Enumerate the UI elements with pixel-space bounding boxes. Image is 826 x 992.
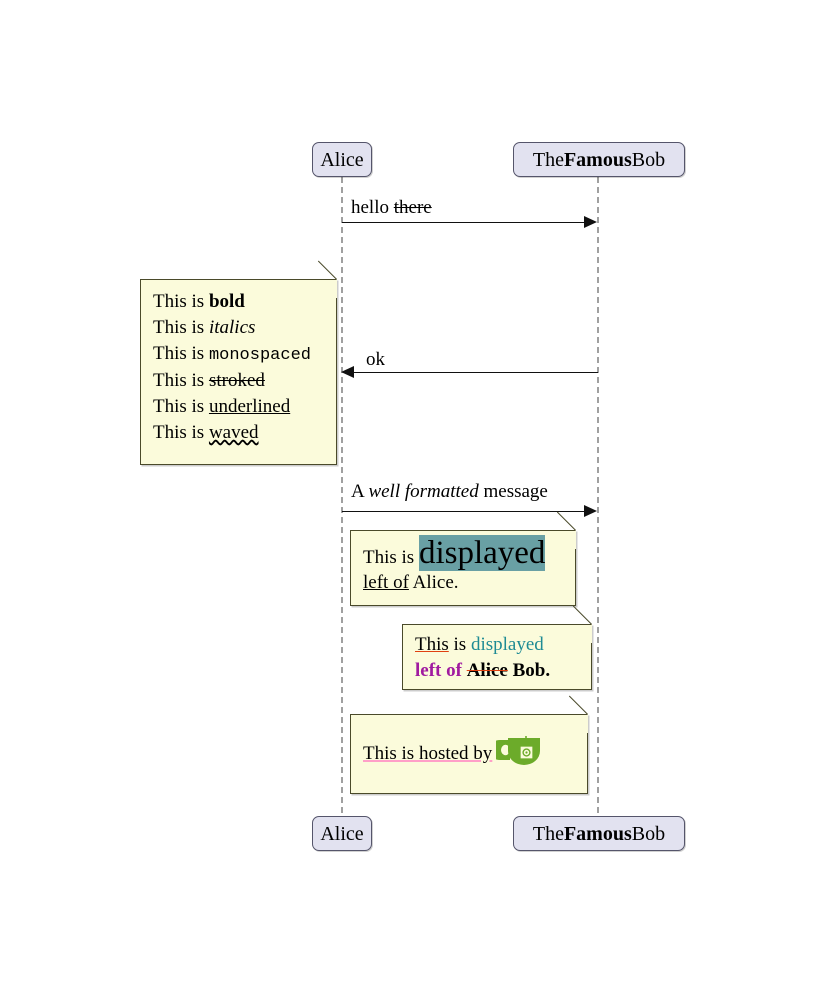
note-line-italics-text: italics	[209, 317, 255, 338]
participant-bob-prefix: The	[533, 150, 564, 170]
participant-bob-bottom-bold: Famous	[564, 824, 632, 844]
note-line-underlined-prefix: This is	[153, 396, 209, 417]
note-hosted-row: This is hosted by	[363, 733, 575, 775]
note-colored-row2: left of Alice Bob.	[415, 658, 579, 684]
note-displayed-rest: Alice.	[409, 572, 459, 593]
note-displayed-underlined: left of	[363, 572, 409, 593]
note-line-monospaced: This is monospaced	[153, 341, 324, 367]
note-displayed-prefix: This is	[363, 547, 419, 568]
message-arrowhead-ok	[341, 366, 354, 378]
message-line-hello-there	[342, 222, 594, 223]
note-displayed-fold-corner-icon	[557, 530, 576, 549]
lifeline-bob	[597, 177, 599, 813]
participant-bob-bottom-prefix: The	[533, 824, 564, 844]
note-line-stroked-prefix: This is	[153, 370, 209, 391]
message-label-ok: ok	[366, 350, 385, 371]
note-colored-fold-corner-icon	[573, 624, 592, 643]
note-line-bold-text: bold	[209, 291, 245, 312]
participant-alice-label: Alice	[320, 150, 363, 170]
message-arrowhead-hello-there	[584, 216, 597, 228]
note-colored-this: This	[415, 634, 449, 655]
message-wf-italic: well formatted	[368, 481, 478, 502]
note-displayed-fold-line-icon	[557, 512, 576, 531]
message-label-hello-there: hello there	[351, 198, 432, 219]
note-colored-leftof: left of	[415, 660, 462, 681]
note-displayed: This is displayed left of Alice.	[350, 530, 576, 606]
note-line-monospaced-prefix: This is	[153, 343, 209, 364]
note-fold-corner-icon	[318, 279, 337, 298]
note-line-waved-text: waved	[209, 422, 259, 443]
note-hosted: This is hosted by	[350, 714, 588, 794]
note-colored-displayed: displayed	[471, 634, 544, 655]
note-displayed-row2: left of Alice.	[363, 573, 563, 593]
participant-alice-top[interactable]: Alice	[312, 142, 372, 177]
note-line-stroked-text: stroked	[209, 370, 265, 391]
note-hosted-text: This is hosted by	[363, 743, 492, 764]
teacup-icon	[496, 751, 542, 772]
note-line-bold: This is bold	[153, 289, 324, 315]
note-colored-is: is	[449, 634, 471, 655]
note-line-underlined: This is underlined	[153, 394, 324, 420]
participant-bob-bold: Famous	[564, 150, 632, 170]
note-line-italics: This is italics	[153, 315, 324, 341]
participant-bob-bottom[interactable]: The Famous Bob	[513, 816, 685, 851]
note-line-monospaced-text: monospaced	[209, 346, 311, 365]
note-fold-line-icon	[318, 261, 337, 280]
note-hosted-fold-line-icon	[569, 696, 588, 715]
note-hosted-fold-corner-icon	[569, 714, 588, 733]
message-hello-plain: hello	[351, 197, 394, 218]
participant-bob-bottom-suffix: Bob	[632, 824, 665, 844]
participant-alice-bottom[interactable]: Alice	[312, 816, 372, 851]
note-colored-bob: Bob.	[508, 660, 550, 681]
lifeline-alice	[341, 177, 343, 813]
note-line-bold-prefix: This is	[153, 291, 209, 312]
message-ok-text: ok	[366, 349, 385, 370]
note-line-stroked: This is stroked	[153, 368, 324, 394]
note-line-italics-prefix: This is	[153, 317, 209, 338]
note-displayed-row1: This is displayed	[363, 537, 563, 573]
message-hello-struck: there	[394, 197, 432, 218]
sequence-diagram-canvas: Alice The Famous Bob hello there This is…	[0, 0, 826, 992]
message-wf-post: message	[479, 481, 548, 502]
message-line-ok	[345, 372, 598, 373]
participant-alice-bottom-label: Alice	[320, 824, 363, 844]
note-colored-alice: Alice	[467, 660, 508, 681]
message-arrowhead-well-formatted	[584, 505, 597, 517]
participant-bob-suffix: Bob	[632, 150, 665, 170]
participant-bob-top[interactable]: The Famous Bob	[513, 142, 685, 177]
message-wf-pre: A	[351, 481, 368, 502]
note-line-underlined-text: underlined	[209, 396, 290, 417]
note-displayed-highlight: displayed	[419, 535, 545, 571]
note-colored-row1: This is displayed	[415, 632, 579, 658]
note-line-waved-prefix: This is	[153, 422, 209, 443]
message-label-well-formatted: A well formatted message	[351, 482, 548, 503]
note-line-waved: This is waved	[153, 420, 324, 446]
note-formatting: This is bold This is italics This is mon…	[140, 279, 337, 465]
note-colored-fold-line-icon	[573, 606, 592, 625]
note-colored: This is displayed left of Alice Bob.	[402, 624, 592, 690]
